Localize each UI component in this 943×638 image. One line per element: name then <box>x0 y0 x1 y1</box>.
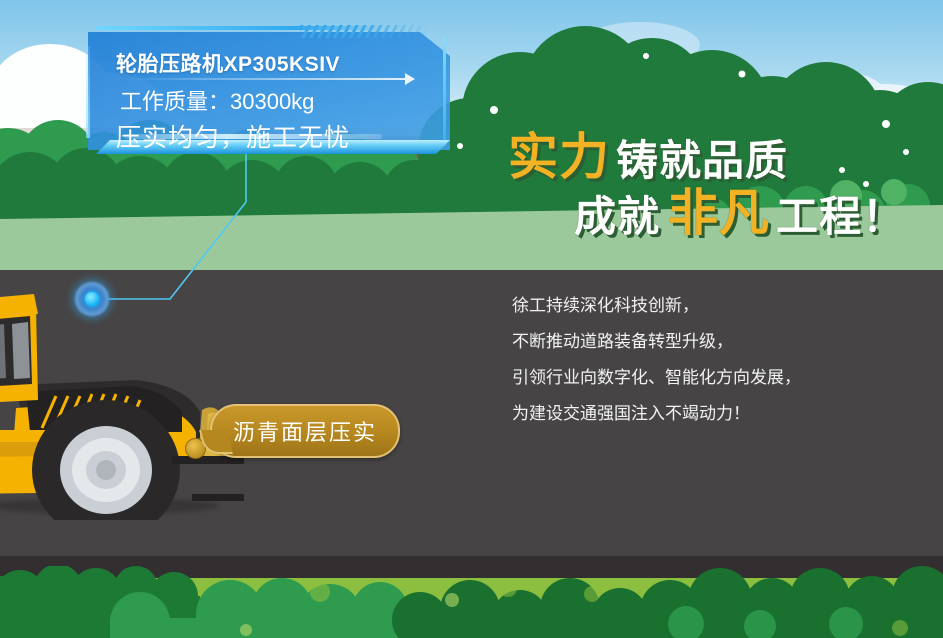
headline-white-1: 铸就品质 <box>616 140 788 182</box>
description-line: 不断推动道路装备转型升级， <box>512 324 912 360</box>
headline-white-2-suffix: 工程！ <box>776 196 905 238</box>
panel-hatch-decoration <box>300 25 428 38</box>
callout-label: 沥青面层压实 <box>212 406 398 456</box>
product-spec: 工作质量：30300kg <box>120 84 314 116</box>
panel-right-accent-line <box>443 36 446 146</box>
bottom-bush-row <box>0 566 943 638</box>
product-slogan: 压实均匀，施工无忧 <box>116 118 350 154</box>
product-title: 轮胎压路机XP305KSIV <box>116 48 340 78</box>
headline: 实力 铸就品质 成就 非凡 工程！ <box>500 132 920 250</box>
headline-line-1: 实力 铸就品质 <box>508 132 788 182</box>
headline-gold-2: 非凡 <box>668 188 770 238</box>
cab-glass-rear <box>12 322 30 379</box>
poster-banner: 轮胎压路机XP305KSIV 工作质量：30300kg 压实均匀，施工无忧 实力… <box>0 0 943 638</box>
product-info-panel[interactable]: 轮胎压路机XP305KSIV 工作质量：30300kg 压实均匀，施工无忧 <box>88 22 450 150</box>
panel-left-accent-line <box>86 46 90 138</box>
description-line: 为建设交通强国注入不竭动力！ <box>512 396 912 432</box>
machine-axle-lower <box>192 494 244 501</box>
description-paragraph: 徐工持续深化科技创新， 不断推动道路装备转型升级， 引领行业向数字化、智能化方向… <box>512 288 912 432</box>
description-line: 徐工持续深化科技创新， <box>512 288 912 324</box>
headline-gold-1: 实力 <box>508 132 610 182</box>
headline-white-2-prefix: 成就 <box>574 196 660 238</box>
pneumatic-tire-roller <box>0 280 246 520</box>
title-arrow-icon <box>124 78 406 80</box>
headline-line-2: 成就 非凡 工程！ <box>574 188 905 238</box>
description-line: 引领行业向数字化、智能化方向发展， <box>512 360 912 396</box>
callout-bubble[interactable]: 沥青面层压实 <box>210 404 400 458</box>
